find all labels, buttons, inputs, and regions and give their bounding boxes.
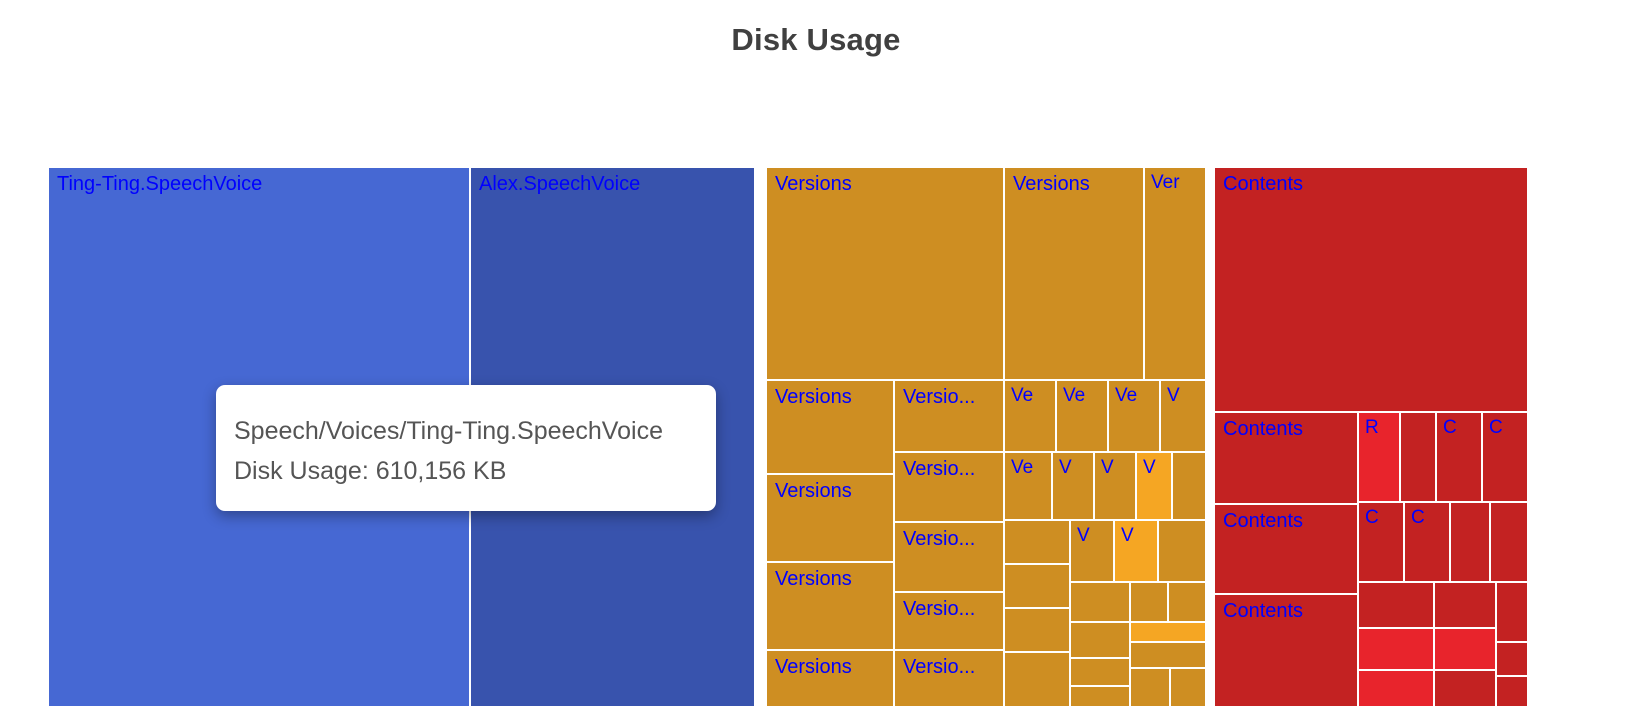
treemap-tile-label: C (1443, 416, 1457, 440)
treemap-tile[interactable] (1130, 622, 1206, 642)
treemap-tile[interactable]: Versions (766, 650, 894, 707)
treemap-tile[interactable] (1070, 582, 1130, 622)
treemap-tile[interactable]: Contents (1214, 594, 1358, 707)
treemap-tile[interactable]: Versions (766, 474, 894, 562)
treemap-tile-label: Versions (775, 655, 852, 679)
tooltip-usage: Disk Usage: 610,156 KB (234, 451, 716, 491)
treemap-tile-label: Versions (775, 479, 852, 503)
treemap-tile[interactable]: Ve (1056, 380, 1108, 452)
treemap-tile-label: Ting-Ting.SpeechVoice (57, 172, 262, 196)
treemap-tile[interactable]: C (1358, 502, 1404, 582)
treemap-tile[interactable] (1070, 622, 1130, 658)
treemap-tile-label: Ve (1011, 384, 1033, 408)
treemap-tile-label: Ve (1011, 456, 1033, 480)
treemap-tile[interactable]: R (1358, 412, 1400, 502)
treemap-tile[interactable]: Versions (766, 167, 1004, 380)
treemap-tile[interactable] (1434, 582, 1496, 628)
treemap-tile[interactable] (1130, 582, 1168, 622)
treemap-tile-label: V (1059, 456, 1072, 480)
treemap-tile[interactable] (1496, 676, 1528, 707)
treemap-tile-label: Ve (1063, 384, 1085, 408)
treemap-tile[interactable] (1490, 502, 1528, 582)
treemap-tile[interactable]: Ve (1108, 380, 1160, 452)
treemap-tile[interactable] (1130, 642, 1206, 668)
treemap-tile[interactable] (1450, 502, 1490, 582)
treemap-tile-label: C (1489, 416, 1503, 440)
page-title: Disk Usage (0, 22, 1632, 58)
treemap-tile[interactable]: V (1052, 452, 1094, 520)
treemap-tile-label: Contents (1223, 509, 1303, 533)
treemap-tile[interactable]: C (1404, 502, 1450, 582)
treemap-tile[interactable]: V (1136, 452, 1172, 520)
treemap-tile-label: Ve (1115, 384, 1137, 408)
treemap-tile[interactable]: Versio... (894, 650, 1004, 707)
tooltip: Speech/Voices/Ting-Ting.SpeechVoice Disk… (216, 385, 716, 511)
treemap-tile-label: Versio... (903, 655, 975, 679)
treemap-tile[interactable] (1496, 582, 1528, 642)
treemap-tile[interactable]: V (1114, 520, 1158, 582)
treemap-tile[interactable] (1004, 564, 1070, 608)
treemap-tile[interactable]: Versions (766, 562, 894, 650)
treemap-tile[interactable]: V (1070, 520, 1114, 582)
treemap-tile[interactable]: Versions (1004, 167, 1144, 380)
treemap-tile-label: C (1411, 506, 1425, 530)
treemap-tile[interactable]: Versio... (894, 452, 1004, 522)
treemap-tile[interactable] (1496, 642, 1528, 676)
treemap-tile[interactable]: C (1482, 412, 1528, 502)
treemap-tile-label: Versio... (903, 385, 975, 409)
treemap-tile[interactable] (1130, 668, 1170, 707)
treemap-tile[interactable]: Ve (1004, 452, 1052, 520)
treemap-tile[interactable]: V (1160, 380, 1206, 452)
treemap-tile[interactable] (1158, 520, 1206, 582)
treemap-tile[interactable]: Contents (1214, 504, 1358, 594)
treemap-tile[interactable] (1434, 628, 1496, 670)
treemap-tile-label: Versio... (903, 457, 975, 481)
treemap-tile-label: V (1101, 456, 1114, 480)
treemap-tile-label: Versions (1013, 172, 1090, 196)
treemap-tile-label: R (1365, 416, 1379, 440)
treemap-tile[interactable] (1358, 582, 1434, 628)
treemap-tile[interactable] (1070, 686, 1130, 707)
treemap-tile-label: C (1365, 506, 1379, 530)
treemap-tile[interactable] (1434, 670, 1496, 707)
treemap-tile[interactable] (1004, 520, 1070, 564)
treemap-tile[interactable] (1358, 670, 1434, 707)
treemap-tile[interactable]: Versio... (894, 380, 1004, 452)
treemap-tile[interactable]: Ver (1144, 167, 1206, 380)
treemap-tile-label: Versio... (903, 527, 975, 551)
treemap-tile-label: V (1077, 524, 1090, 548)
treemap-tile-label: Contents (1223, 172, 1303, 196)
treemap-tile-label: Ver (1151, 171, 1180, 195)
treemap-tile[interactable]: C (1436, 412, 1482, 502)
treemap-tile-label: Contents (1223, 599, 1303, 623)
treemap-tile[interactable] (1358, 628, 1434, 670)
tooltip-path: Speech/Voices/Ting-Ting.SpeechVoice (234, 411, 716, 451)
treemap-tile-label: Versio... (903, 597, 975, 621)
treemap-tile-label: Alex.SpeechVoice (479, 172, 640, 196)
treemap-tile[interactable] (1170, 668, 1206, 707)
treemap-tile[interactable]: Contents (1214, 167, 1528, 412)
treemap-tile[interactable]: Versio... (894, 522, 1004, 592)
treemap-tile-label: Contents (1223, 417, 1303, 441)
treemap-tile[interactable] (1004, 652, 1070, 707)
treemap-tile-label: Versions (775, 172, 852, 196)
treemap-tile[interactable]: Contents (1214, 412, 1358, 504)
treemap-tile[interactable]: Versions (766, 380, 894, 474)
treemap-tile[interactable]: V (1094, 452, 1136, 520)
treemap-tile[interactable]: Versio... (894, 592, 1004, 650)
treemap-tile-label: V (1121, 524, 1134, 548)
treemap-tile-label: V (1143, 456, 1156, 480)
treemap-tile[interactable] (1004, 608, 1070, 652)
treemap-tile[interactable] (1400, 412, 1436, 502)
treemap-tile[interactable]: Ve (1004, 380, 1056, 452)
treemap-tile[interactable] (1172, 452, 1206, 520)
treemap-tile-label: Versions (775, 385, 852, 409)
treemap-tile[interactable] (1168, 582, 1206, 622)
treemap-tile-label: V (1167, 384, 1180, 408)
treemap-tile[interactable] (1070, 658, 1130, 686)
treemap-tile-label: Versions (775, 567, 852, 591)
